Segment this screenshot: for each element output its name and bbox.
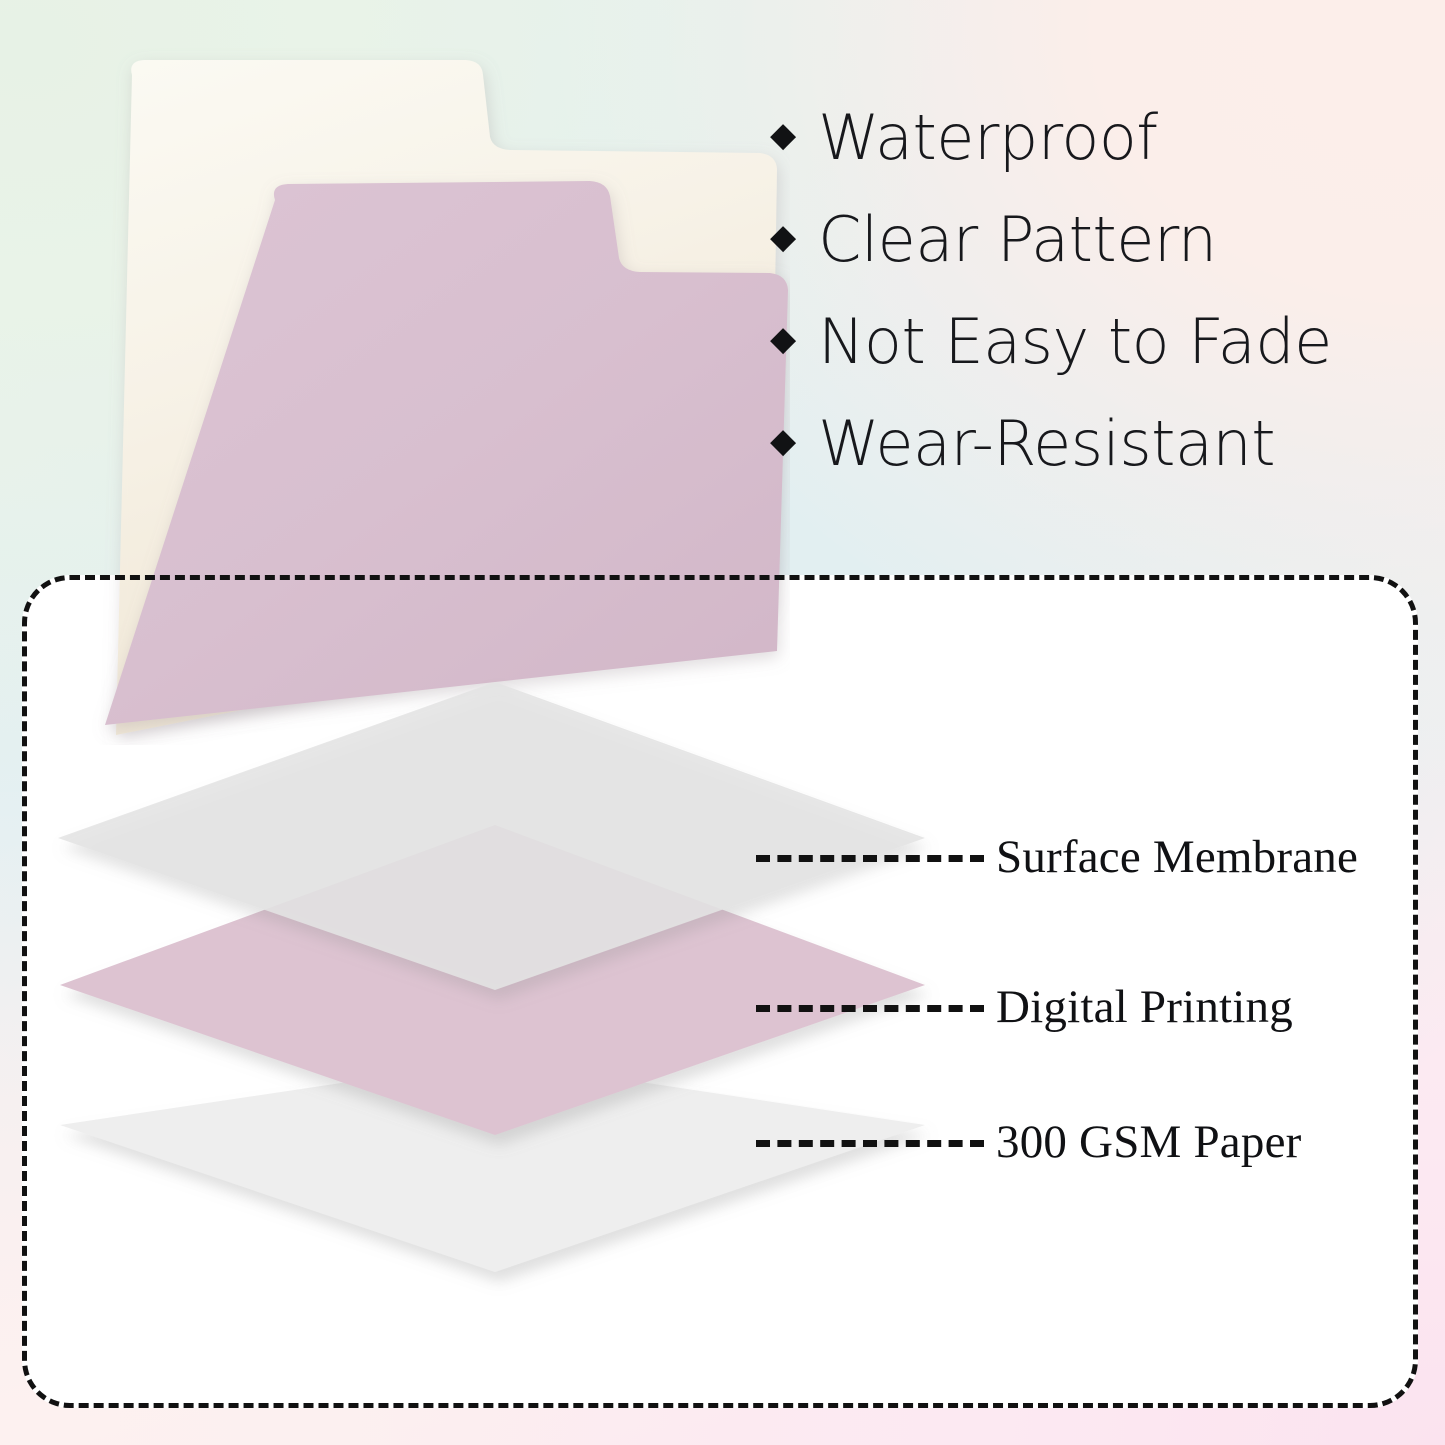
leader-line-digital-printing	[756, 1005, 984, 1012]
feature-item-clear-pattern: ◆ Clear Pattern	[770, 188, 1410, 290]
infographic-canvas: Surface Membrane Digital Printing 300 GS…	[0, 0, 1445, 1445]
feature-item-wear-resistant: ◆ Wear-Resistant	[770, 392, 1410, 494]
leader-line-surface-membrane	[756, 855, 984, 862]
diamond-bullet-icon: ◆	[770, 424, 796, 458]
layer-label-300-gsm-paper: 300 GSM Paper	[996, 1115, 1301, 1169]
diamond-bullet-icon: ◆	[770, 220, 796, 254]
leader-line-300-gsm-paper	[756, 1140, 984, 1147]
feature-item-not-easy-to-fade: ◆ Not Easy to Fade	[770, 290, 1410, 392]
feature-label: Not Easy to Fade	[818, 305, 1332, 378]
layer-label-surface-membrane: Surface Membrane	[996, 830, 1358, 884]
feature-item-waterproof: ◆ Waterproof	[770, 86, 1410, 188]
diamond-bullet-icon: ◆	[770, 118, 796, 152]
feature-label: Wear-Resistant	[818, 407, 1275, 480]
layer-label-digital-printing: Digital Printing	[996, 980, 1293, 1034]
feature-list: ◆ Waterproof ◆ Clear Pattern ◆ Not Easy …	[770, 86, 1410, 494]
diamond-bullet-icon: ◆	[770, 322, 796, 356]
feature-label: Clear Pattern	[818, 203, 1216, 276]
feature-label: Waterproof	[818, 101, 1157, 174]
material-layer-stack	[0, 640, 1000, 1320]
